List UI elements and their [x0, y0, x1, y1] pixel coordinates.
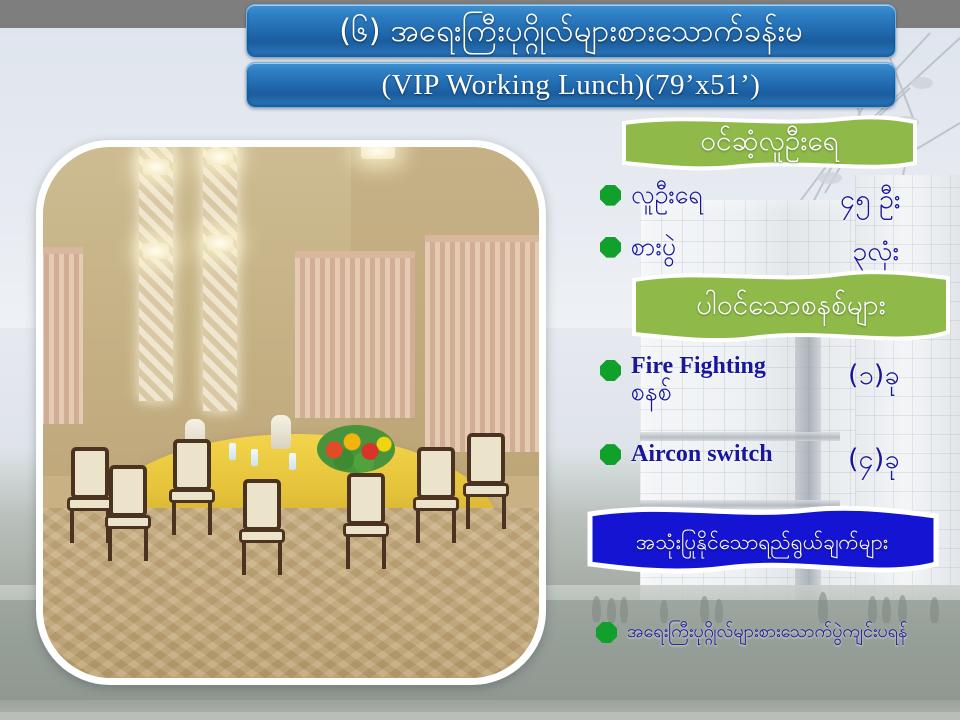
title-banner-secondary: (VIP Working Lunch)(79’x51’)	[246, 62, 896, 108]
systems-fire-label-suffix: စနစ်	[631, 377, 672, 406]
capacity-tables-label: စားပွဲ	[631, 234, 676, 260]
capacity-people-value: ၄၅ ဦး	[840, 182, 901, 222]
usage-heading-text: အသုံးပြုနိုင်သောရည်ရွယ်ချက်များ	[636, 529, 888, 560]
capacity-row-people: လူဦးရေ	[600, 182, 840, 208]
crowd-silhouette	[868, 596, 877, 623]
page-title: (၆) အရေးကြီးပုဂ္ဂိုလ်များစားသောက်ခန်းမ	[339, 13, 803, 49]
title-banner-primary: (၆) အရေးကြီးပုဂ္ဂိုလ်များစားသောက်ခန်းမ	[246, 4, 896, 58]
green-bullet-icon	[600, 237, 621, 258]
capacity-people-label: လူဦးရေ	[631, 182, 703, 208]
photo-chair	[169, 439, 215, 535]
systems-fire-label: Fire Fighting	[631, 353, 766, 379]
crowd-silhouette	[592, 596, 601, 622]
systems-fire-value: (၁)ခု	[848, 358, 899, 398]
crowd-silhouette	[700, 596, 709, 623]
photo-chair	[105, 465, 151, 561]
photo-lattice-panel	[203, 147, 237, 411]
photo-chair	[463, 433, 509, 529]
green-bullet-icon	[600, 444, 621, 465]
title-block: (၆) အရေးကြီးပုဂ္ဂိုလ်များစားသောက်ခန်းမ (…	[246, 4, 896, 108]
systems-section-heading-banner: ပါဝင်သောစနစ်များ	[632, 266, 950, 348]
crowd-silhouette	[715, 599, 723, 623]
crowd-silhouette	[930, 597, 939, 623]
photo-chair	[239, 479, 285, 575]
photo-bottle	[251, 449, 258, 466]
photo-curtain-left	[43, 247, 83, 424]
photo-curtain-right	[425, 235, 539, 452]
crowd-silhouette	[660, 600, 668, 623]
photo-chair	[343, 473, 389, 569]
systems-aircon-label: Aircon switch	[631, 442, 773, 467]
photo-light	[207, 149, 233, 165]
capacity-heading-text: ဝင်ဆံ့လူဦးရေ	[690, 122, 849, 164]
photo-bottle	[289, 453, 296, 470]
photo-light	[207, 235, 233, 251]
background-rail	[640, 432, 840, 441]
room-photo-frame	[36, 140, 546, 685]
photo-flower-arrangement	[317, 425, 395, 473]
photo-curtain-center	[295, 251, 415, 418]
page-subtitle: (VIP Working Lunch)(79’x51’)	[382, 69, 761, 101]
crowd-silhouette	[620, 597, 628, 623]
green-bullet-icon	[600, 360, 621, 381]
crowd-silhouette	[898, 595, 907, 623]
systems-aircon-value: (၄)ခု	[848, 442, 899, 482]
capacity-section-heading-banner: ဝင်ဆံ့လူဦးရေ	[622, 113, 917, 173]
systems-row-aircon: Aircon switch	[600, 442, 850, 467]
crowd-silhouette	[607, 598, 616, 623]
photo-bottle	[229, 443, 236, 460]
green-bullet-icon	[600, 185, 621, 206]
background-bottom-bar	[0, 712, 960, 720]
photo-chair	[413, 447, 459, 543]
crowd-silhouette	[882, 597, 891, 623]
systems-row-fire: Fire Fighting စနစ်	[600, 354, 850, 405]
capacity-row-tables: စားပွဲ	[600, 234, 840, 260]
photo-ceiling-light	[361, 147, 395, 159]
slide-canvas: (၆) အရေးကြီးပုဂ္ဂိုလ်များစားသောက်ခန်းမ (…	[0, 0, 960, 720]
systems-fire-label-group: Fire Fighting စနစ်	[631, 354, 766, 405]
room-photo	[43, 147, 539, 678]
systems-heading-text: ပါဝင်သောစနစ်များ	[686, 286, 896, 328]
usage-section-heading-ribbon: အသုံးပြုနိုင်သောရည်ရွယ်ချက်များ	[576, 500, 948, 588]
photo-vase	[271, 415, 291, 449]
crowd-silhouette	[818, 592, 828, 623]
usage-item-label: အရေးကြီးပုဂ္ဂိုလ်များစားသောက်ပွဲကျင်းပရန…	[627, 623, 907, 642]
usage-row-item: အရေးကြီးပုဂ္ဂိုလ်များစားသောက်ပွဲကျင်းပရန…	[596, 622, 960, 643]
photo-light	[143, 159, 169, 175]
green-bullet-icon	[596, 622, 617, 643]
photo-light	[143, 243, 169, 259]
photo-lattice-panel	[139, 147, 173, 401]
